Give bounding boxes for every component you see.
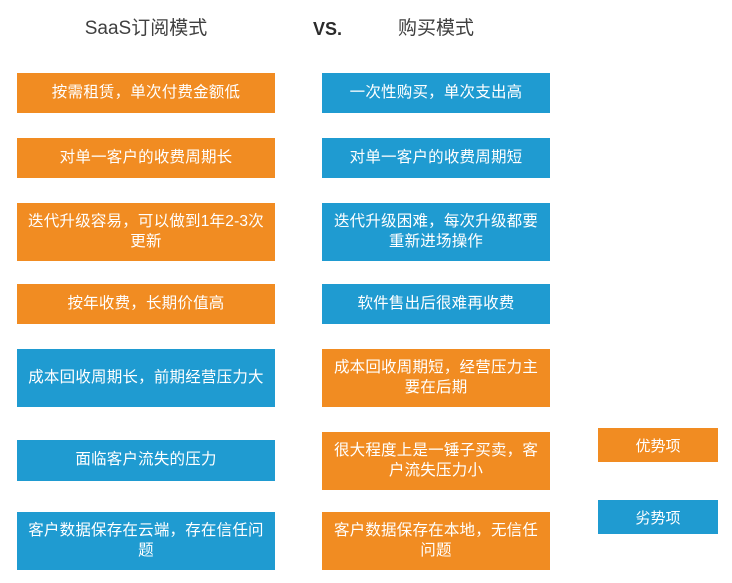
comparison-box-right-6: 很大程度上是一锤子买卖，客户流失压力小	[322, 432, 550, 490]
comparison-box-left-1: 按需租赁，单次付费金额低	[17, 73, 275, 113]
comparison-box-right-7: 客户数据保存在本地，无信任问题	[322, 512, 550, 570]
legend-disadvantage: 劣势项	[598, 500, 718, 534]
legend-advantage: 优势项	[598, 428, 718, 462]
comparison-box-left-7: 客户数据保存在云端，存在信任问题	[17, 512, 275, 570]
comparison-slide: SaaS订阅模式 VS. 购买模式 按需租赁，单次付费金额低 一次性购买，单次支…	[0, 0, 732, 583]
comparison-box-left-6: 面临客户流失的压力	[17, 440, 275, 481]
comparison-box-right-2: 对单一客户的收费周期短	[322, 138, 550, 178]
comparison-box-left-2: 对单一客户的收费周期长	[17, 138, 275, 178]
comparison-box-right-3: 迭代升级困难，每次升级都要重新进场操作	[322, 203, 550, 261]
header-title-saas: SaaS订阅模式	[17, 12, 275, 46]
comparison-box-right-1: 一次性购买，单次支出高	[322, 73, 550, 113]
comparison-box-right-5: 成本回收周期短，经营压力主要在后期	[322, 349, 550, 407]
comparison-box-left-4: 按年收费，长期价值高	[17, 284, 275, 324]
comparison-box-left-3: 迭代升级容易，可以做到1年2-3次更新	[17, 203, 275, 261]
header-row: SaaS订阅模式 VS. 购买模式	[0, 12, 732, 46]
comparison-box-right-4: 软件售出后很难再收费	[322, 284, 550, 324]
header-title-purchase: 购买模式	[322, 12, 550, 46]
comparison-box-left-5: 成本回收周期长，前期经营压力大	[17, 349, 275, 407]
